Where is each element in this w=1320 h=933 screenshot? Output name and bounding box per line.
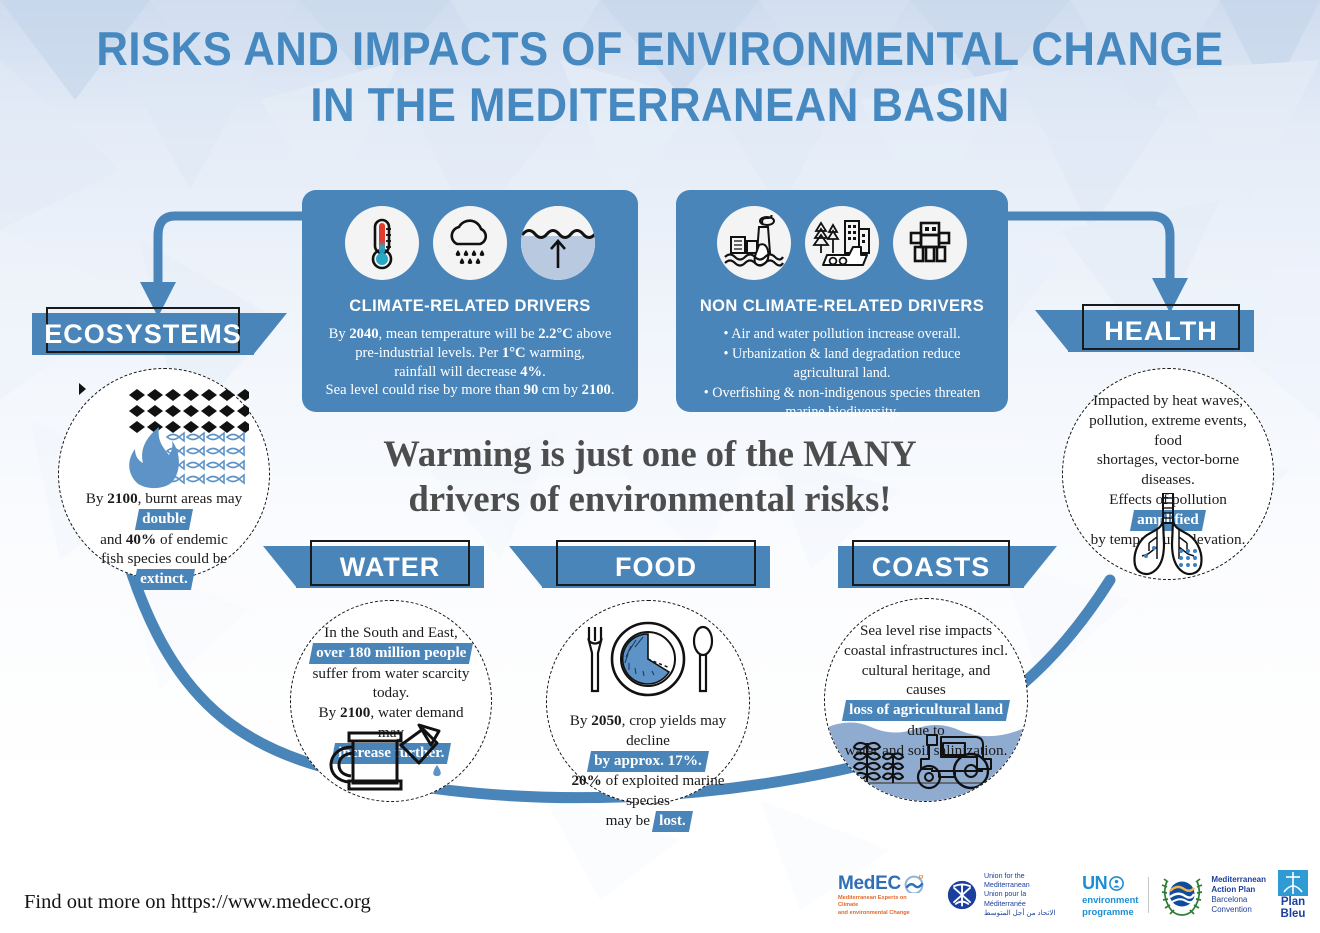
climate-icon-row <box>316 206 624 280</box>
tractor-and-crops-icon <box>825 727 1027 793</box>
un-line-2: environment <box>1082 894 1138 905</box>
plan-bleu-line-1: Plan <box>1281 896 1305 908</box>
medecc-wave-icon <box>901 875 927 893</box>
climate-drivers-text: By 2040, mean temperature will be 2.2°C … <box>316 325 624 400</box>
medecc-tagline-1: Mediterranean Experts on Climate <box>838 895 927 910</box>
map-emblem-icon <box>1159 873 1205 917</box>
banner-coasts[interactable]: COASTS <box>838 546 1024 588</box>
plan-bleu-logo: Plan Bleu <box>1278 870 1308 920</box>
plate-fork-spoon-pie-icon <box>547 615 749 705</box>
un-wordmark: UN <box>1082 873 1107 894</box>
invasive-species-icon <box>893 206 967 280</box>
banner-label-ecosystems: ECOSYSTEMS <box>32 313 254 355</box>
banner-label-water: WATER <box>296 546 484 588</box>
map-line-1: Mediterranean <box>1211 875 1266 885</box>
lungs-icon <box>1063 493 1273 577</box>
non-climate-icon-row <box>690 206 994 280</box>
central-statement: Warming is just one of the MANY drivers … <box>330 432 970 521</box>
map-line-4: Convention <box>1211 905 1266 915</box>
medecc-logo: MedEC Mediterranean Experts on Climate a… <box>838 873 927 918</box>
medecc-wordmark: MedEC <box>838 873 901 895</box>
page-title: RISKS AND IMPACTS OF ENVIRONMENTAL CHANG… <box>0 26 1320 128</box>
bubble-ecosystems: By 2100, burnt areas may doubleand 40% o… <box>58 368 270 580</box>
page-title-line1: RISKS AND IMPACTS OF ENVIRONMENTAL CHANG… <box>46 26 1274 72</box>
central-statement-line1: Warming is just one of the MANY <box>330 432 970 477</box>
medecc-tagline-2: and environmental Change <box>838 910 910 918</box>
mediterranean-action-plan-logo: Mediterranean Action Plan Barcelona Conv… <box>1159 873 1266 917</box>
bubble-coasts: Sea level rise impactscoastal infrastruc… <box>824 598 1028 802</box>
un-line-3: programme <box>1082 906 1134 917</box>
map-line-3: Barcelona <box>1211 895 1266 905</box>
banner-food[interactable]: FOOD <box>542 546 770 588</box>
un-globe-icon <box>1109 876 1124 891</box>
non-climate-drivers-panel: NON CLIMATE-RELATED DRIVERS • Air and wa… <box>676 190 1008 412</box>
fire-and-fish-icon <box>59 383 269 493</box>
banner-label-health: HEALTH <box>1068 310 1254 352</box>
map-line-2: Action Plan <box>1211 885 1266 895</box>
page-title-line2: IN THE MEDITERRANEAN BASIN <box>46 82 1274 128</box>
un-environment-programme-logo: UN environment programme <box>1082 873 1138 917</box>
ufm-line-3: الاتحاد من أجل المتوسط <box>984 909 1062 918</box>
banner-health[interactable]: HEALTH <box>1068 310 1254 352</box>
climate-drivers-heading: CLIMATE-RELATED DRIVERS <box>316 297 624 316</box>
thermometer-icon <box>345 206 419 280</box>
watering-can-icon <box>291 719 491 795</box>
urbanization-icon <box>805 206 879 280</box>
banner-ecosystems[interactable]: ECOSYSTEMS <box>32 313 254 355</box>
plan-bleu-mark-icon <box>1278 870 1308 896</box>
banner-water[interactable]: WATER <box>296 546 484 588</box>
bubble-food: By 2050, crop yields may declineby appro… <box>546 600 750 804</box>
footer-note[interactable]: Find out more on https://www.medecc.org <box>24 891 371 914</box>
non-climate-drivers-heading: NON CLIMATE-RELATED DRIVERS <box>690 297 994 316</box>
logo-divider <box>1148 877 1149 913</box>
climate-drivers-panel: CLIMATE-RELATED DRIVERS By 2040, mean te… <box>302 190 638 412</box>
bubble-text-food: By 2050, crop yields may declineby appro… <box>563 711 733 832</box>
ufm-line-2: Union pour la Méditerranée <box>984 890 1062 908</box>
partner-logos: MedEC Mediterranean Experts on Climate a… <box>838 866 1308 924</box>
rain-cloud-icon <box>433 206 507 280</box>
central-statement-line2: drivers of environmental risks! <box>330 477 970 522</box>
bubble-health: Impacted by heat waves,pollution, extrem… <box>1062 368 1274 580</box>
union-for-the-mediterranean-logo: Union for the Mediterranean Union pour l… <box>947 872 1062 918</box>
non-climate-drivers-bullets: • Air and water pollution increase overa… <box>690 325 994 423</box>
sea-level-rise-icon <box>521 206 595 280</box>
industrial-pollution-icon <box>717 206 791 280</box>
plan-bleu-line-2: Bleu <box>1281 908 1306 920</box>
bubble-text-ecosystems: By 2100, burnt areas may doubleand 40% o… <box>76 489 252 590</box>
ufm-emblem-icon <box>947 878 977 912</box>
banner-label-food: FOOD <box>542 546 770 588</box>
bubble-water: In the South and East,over 180 million p… <box>290 600 492 802</box>
infographic-canvas: RISKS AND IMPACTS OF ENVIRONMENTAL CHANG… <box>0 0 1320 933</box>
ufm-line-1: Union for the Mediterranean <box>984 872 1062 890</box>
banner-label-coasts: COASTS <box>838 546 1024 588</box>
